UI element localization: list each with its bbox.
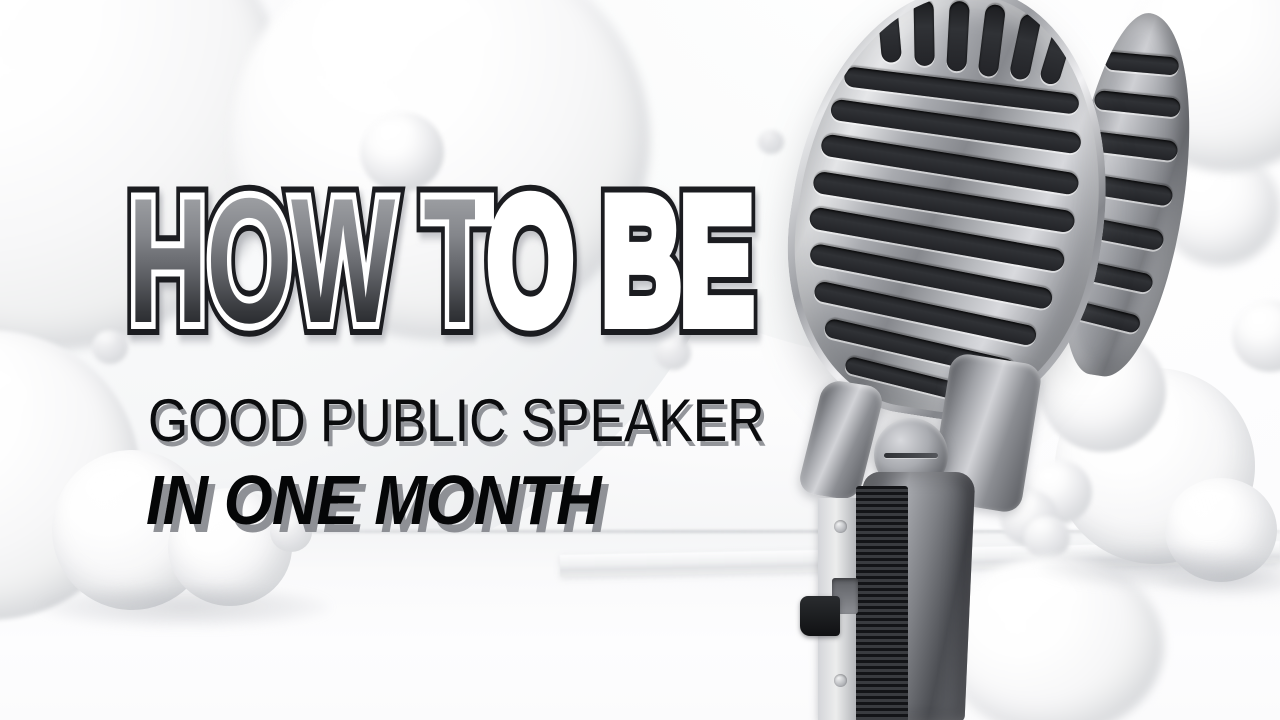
sphere-decoration-icon	[270, 512, 312, 552]
sphere-decoration-icon	[360, 112, 444, 192]
microphone-screw	[834, 520, 847, 533]
clamp-lever-icon	[800, 596, 840, 636]
microphone-screw	[834, 674, 847, 687]
microphone-rail-teeth	[856, 486, 908, 720]
thumbnail-canvas: HOW TO BE HOW TO BE HOW TO BE GOOD PUBLI…	[0, 0, 1280, 720]
sphere-shadow	[40, 586, 330, 628]
sphere-decoration-icon	[655, 336, 691, 370]
sphere-decoration-icon	[92, 330, 128, 364]
microphone-icon	[740, 0, 1180, 720]
